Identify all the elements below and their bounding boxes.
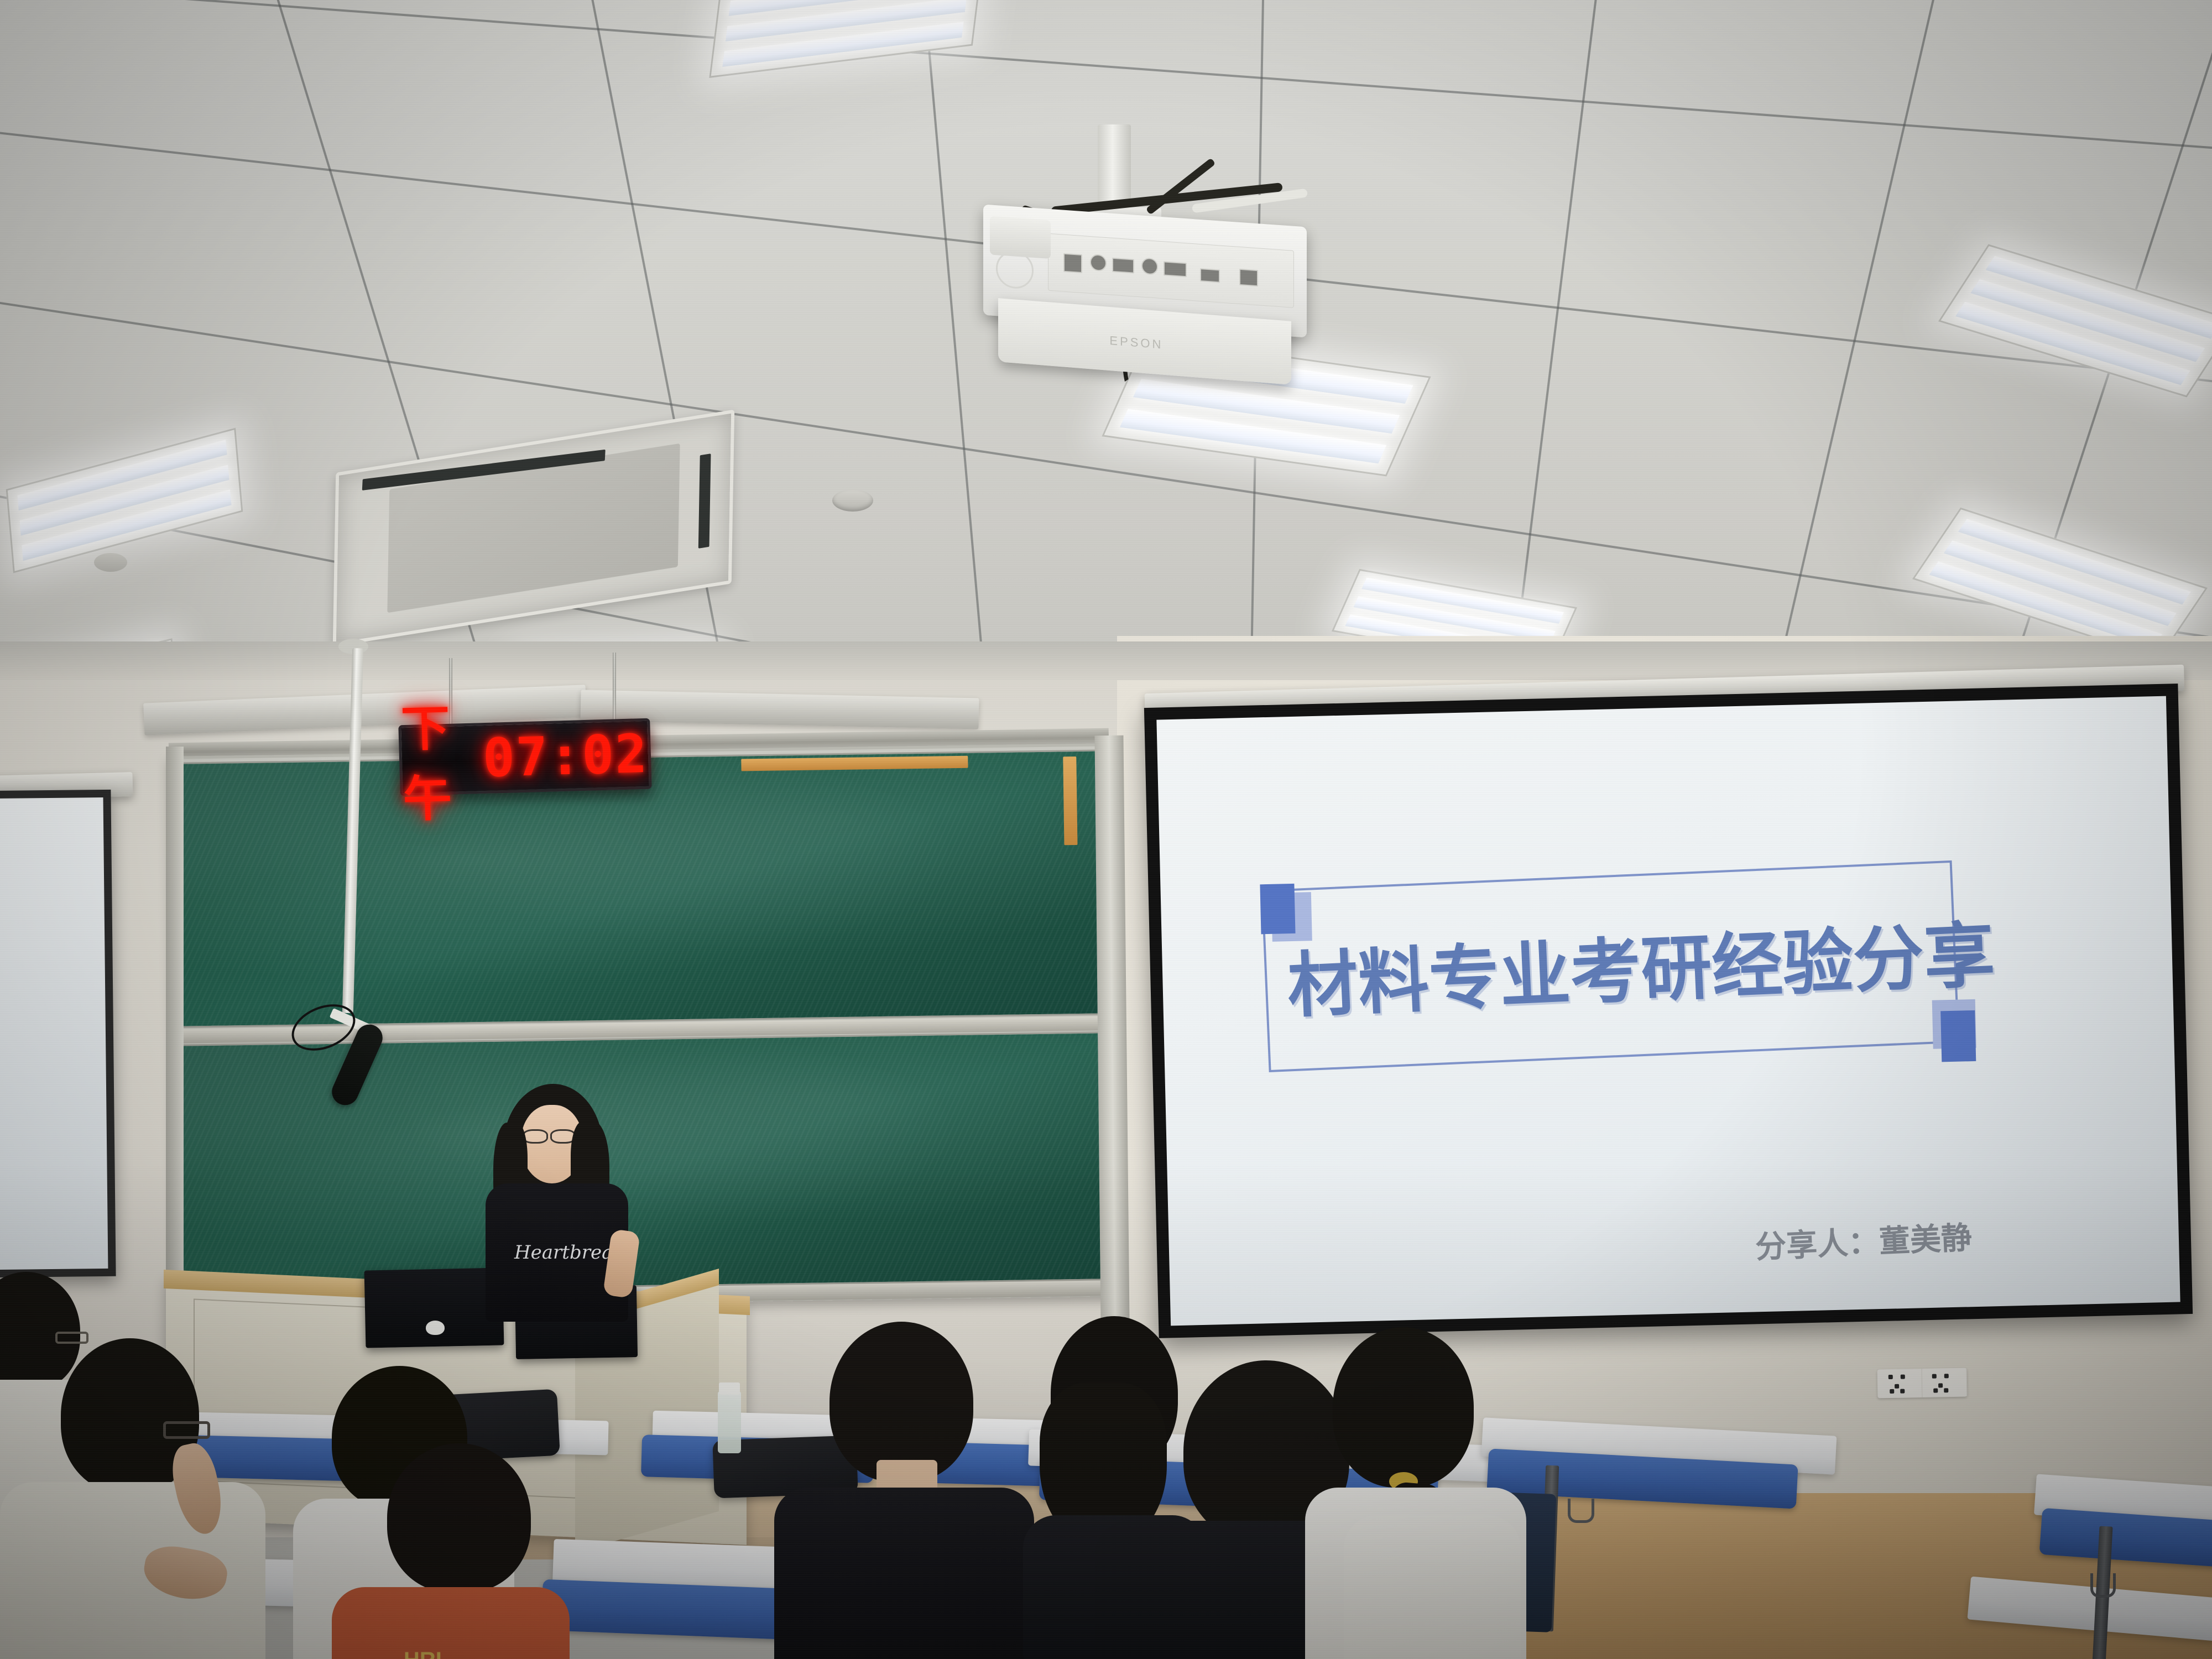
led-wall-clock: 下午 07:02 [398,718,651,796]
left-screen-surface: 享 美静 [0,797,108,1271]
classroom-photo: EPSON 下午 07:02 享 美静 [0,0,2212,1659]
left-projection-screen: 享 美静 [0,790,116,1279]
main-projection-screen: 材料专业考研经验分享 分享人：董美静 [1144,684,2193,1338]
presenter: Heartbreak [470,1084,658,1316]
podium-mouse[interactable] [426,1321,445,1335]
water-bottle-cap [719,1383,740,1395]
blackboard-right-jamb [1094,735,1129,1322]
clock-ampm-label: 下午 [400,688,471,831]
slide-accent-square-top-left [1260,884,1295,934]
student-torso [1344,1515,1521,1659]
presentation-slide: 材料专业考研经验分享 分享人：董美静 [1156,696,2180,1326]
audience-member [1432,1482,1609,1659]
slide-accent-square-bottom-right [1940,1010,1976,1062]
chalk-tray-vertical [1063,757,1077,845]
student-head [387,1443,531,1593]
blackboard-left-jamb [166,747,184,1311]
ceiling-sensor-icon [832,489,873,512]
clock-hanger-rod [613,653,616,726]
blackboard-upper-panel [175,749,1105,1027]
projector-lens-housing [990,216,1051,259]
shirt-graphic: HRL [404,1648,449,1659]
student-head [830,1322,973,1482]
clock-time-value: 07:02 [482,723,649,789]
projector-brand-label: EPSON [1109,333,1163,352]
wall-power-outlet[interactable] [1877,1368,1968,1399]
student-glasses [163,1421,210,1439]
student-torso [774,1488,1034,1659]
audience-member: HRL [315,1493,581,1659]
water-bottle [718,1391,741,1453]
desk-bag-hook[interactable] [2090,1573,2116,1598]
slide-presenter-credit: 分享人：董美静 [1754,1213,1973,1267]
student-head [1333,1327,1474,1488]
audience-member [758,1322,1045,1659]
projection-surface: 材料专业考研经验分享 分享人：董美静 [1156,696,2180,1326]
ceiling-sensor-icon [94,553,127,572]
projector-port-panel [1048,233,1294,308]
student-torso [332,1587,570,1659]
